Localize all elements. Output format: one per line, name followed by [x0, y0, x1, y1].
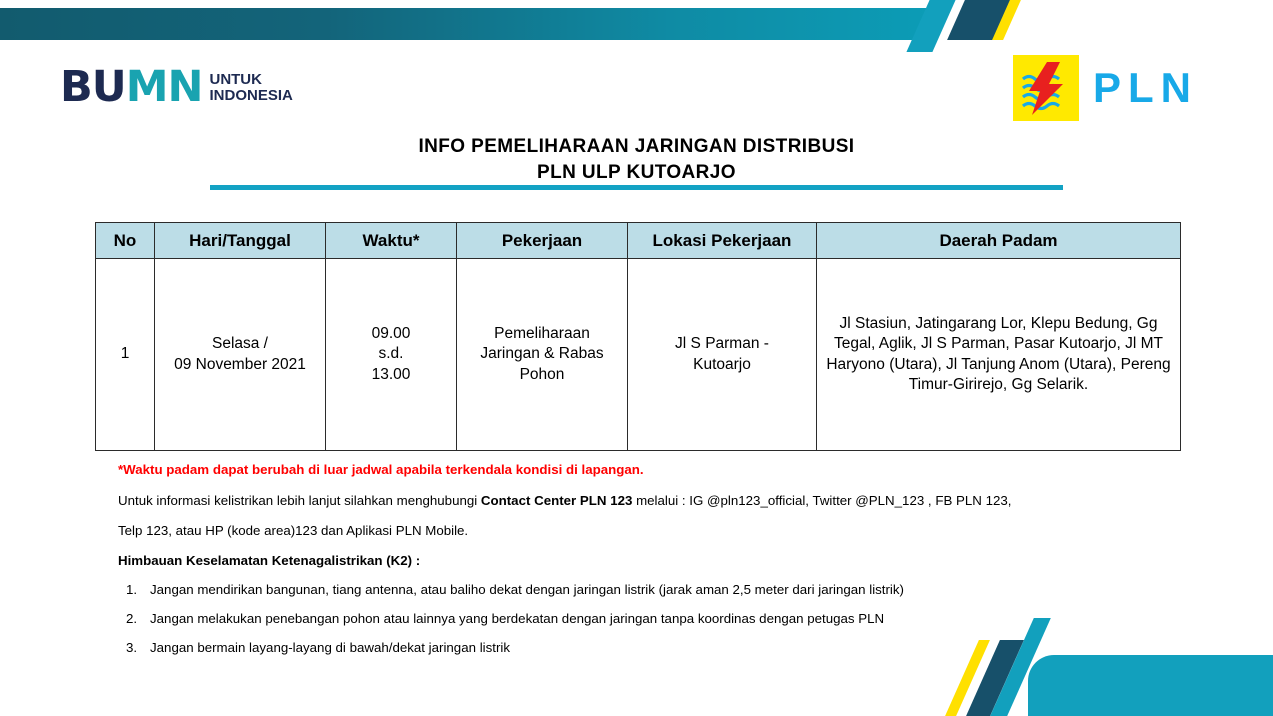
page-title-line2: PLN ULP KUTOARJO	[0, 160, 1273, 186]
cell-waktu: 09.00 s.d. 13.00	[326, 259, 457, 451]
pln-badge-icon	[1013, 55, 1079, 121]
bumn-tagline: UNTUK INDONESIA	[209, 72, 292, 103]
column-header-waktu: Waktu*	[326, 223, 457, 259]
column-header-pekerjaan: Pekerjaan	[457, 223, 628, 259]
bumn-logo: BUMN UNTUK INDONESIA	[60, 66, 293, 109]
column-header-hari-tanggal: Hari/Tanggal	[155, 223, 326, 259]
k2-item-text: Jangan bermain layang-layang di bawah/de…	[150, 640, 1208, 656]
column-header-daerah-padam: Daerah Padam	[817, 223, 1181, 259]
list-item: 3. Jangan bermain layang-layang di bawah…	[118, 640, 1208, 656]
pln-wordmark: PLN	[1093, 64, 1198, 112]
note-contact-line2: Telp 123, atau HP (kode area)123 dan Apl…	[118, 523, 1208, 539]
table-header: No Hari/Tanggal Waktu* Pekerjaan Lokasi …	[96, 223, 1181, 259]
table-header-row: No Hari/Tanggal Waktu* Pekerjaan Lokasi …	[96, 223, 1181, 259]
note-contact-bold: Contact Center PLN 123	[481, 493, 632, 508]
pln-logo: PLN	[1013, 55, 1198, 121]
bottom-cyan-block-decoration	[1028, 655, 1273, 716]
footer-notes: *Waktu padam dapat berubah di luar jadwa…	[118, 462, 1208, 669]
column-header-lokasi-pekerjaan: Lokasi Pekerjaan	[628, 223, 817, 259]
note-warning-text: *Waktu padam dapat berubah di luar jadwa…	[118, 462, 1208, 478]
pln-bolt-and-waves-icon	[1013, 55, 1079, 121]
cell-no: 1	[96, 259, 155, 451]
k2-item-number: 1.	[118, 582, 150, 598]
top-banner-gradient-bar	[0, 8, 930, 40]
k2-item-text: Jangan mendirikan bangunan, tiang antenn…	[150, 582, 1208, 598]
k2-item-number: 2.	[118, 611, 150, 627]
page-title: INFO PEMELIHARAAN JARINGAN DISTRIBUSI PL…	[0, 134, 1273, 186]
note-k2-heading: Himbauan Keselamatan Ketenagalistrikan (…	[118, 553, 1208, 569]
cell-hari-tanggal: Selasa / 09 November 2021	[155, 259, 326, 451]
page-title-line1: INFO PEMELIHARAAN JARINGAN DISTRIBUSI	[0, 134, 1273, 160]
bumn-mark-mn: MN	[126, 62, 203, 112]
bumn-tagline-line1: UNTUK	[209, 72, 292, 87]
k2-item-number: 3.	[118, 640, 150, 656]
note-contact-part1: Untuk informasi kelistrikan lebih lanjut…	[118, 493, 481, 508]
maintenance-schedule-table: No Hari/Tanggal Waktu* Pekerjaan Lokasi …	[95, 222, 1181, 451]
bumn-mark-bu: BU	[60, 62, 126, 112]
bumn-tagline-line2: INDONESIA	[209, 88, 292, 103]
note-contact-line: Untuk informasi kelistrikan lebih lanjut…	[118, 493, 1208, 509]
list-item: 1. Jangan mendirikan bangunan, tiang ant…	[118, 582, 1208, 598]
column-header-no: No	[96, 223, 155, 259]
cell-daerah-padam: Jl Stasiun, Jatingarang Lor, Klepu Bedun…	[817, 259, 1181, 451]
cell-pekerjaan: Pemeliharaan Jaringan & Rabas Pohon	[457, 259, 628, 451]
note-contact-part2: melalui : IG @pln123_official, Twitter @…	[632, 493, 1011, 508]
bumn-wordmark: BUMN	[60, 66, 202, 109]
title-underline-rule	[210, 185, 1063, 190]
table-body: 1 Selasa / 09 November 2021 09.00 s.d. 1…	[96, 259, 1181, 451]
cell-lokasi: Jl S Parman - Kutoarjo	[628, 259, 817, 451]
table-row: 1 Selasa / 09 November 2021 09.00 s.d. 1…	[96, 259, 1181, 451]
